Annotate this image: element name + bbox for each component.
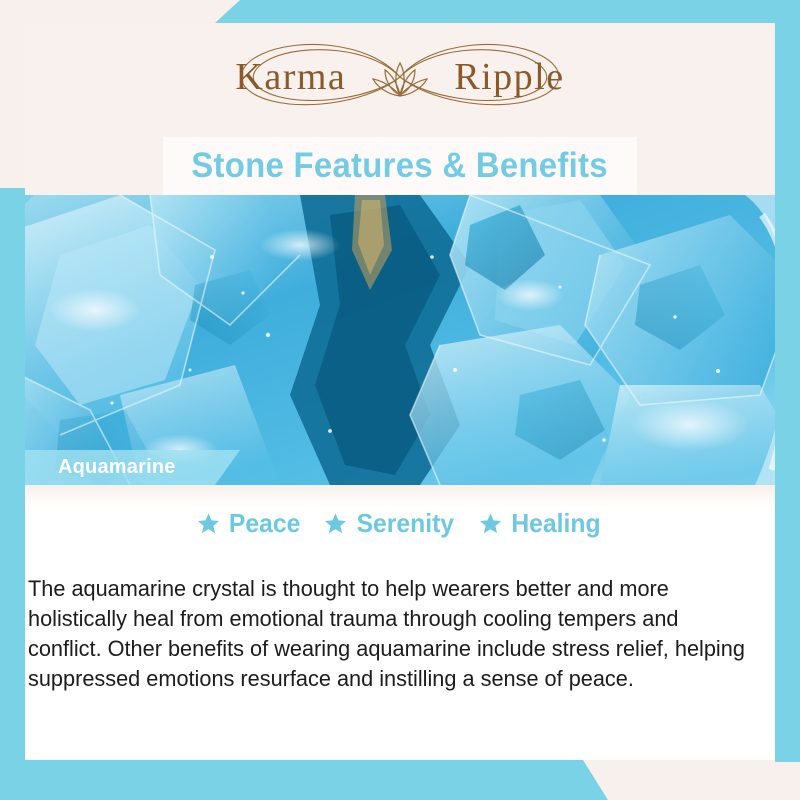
crystal-photo-artwork [0,195,800,485]
frame-band-left [0,188,25,800]
brand-name-right: Ripple [454,58,564,96]
keyword-label: Serenity [357,508,454,539]
frame-band-bottom [0,760,608,800]
stone-name: Aquamarine [25,456,176,479]
keyword-label: Healing [511,508,600,539]
bottom-cream-strip [580,760,800,800]
frame-band-right [775,0,800,762]
star-icon [479,512,502,535]
body-paragraph: The aquamarine crystal is thought to hel… [28,574,746,694]
brand-logo-inner: Karma Ripple [190,38,610,116]
lotus-icon [369,55,431,101]
content-top-fade [25,485,775,507]
stone-name-banner: Aquamarine [25,450,240,485]
aquamarine-crystal-photo [0,195,800,485]
keyword-serenity: Serenity [324,508,457,539]
content-area: Peace Serenity Healing The aquamarine cr… [25,485,775,760]
star-icon [197,512,220,535]
keyword-peace: Peace [197,508,302,539]
frame-band-top [215,0,800,23]
brand-logo: Karma Ripple [0,38,800,116]
stone-info-poster: Karma Ripple Stone Features & Benefits [0,0,800,800]
title-panel: Stone Features & Benefits [163,137,637,195]
keyword-healing: Healing [479,508,603,539]
brand-name-left: Karma [235,58,346,96]
keyword-row: Peace Serenity Healing [25,508,775,539]
page-title: Stone Features & Benefits [192,146,609,186]
star-icon [324,512,347,535]
keyword-label: Peace [229,508,300,539]
